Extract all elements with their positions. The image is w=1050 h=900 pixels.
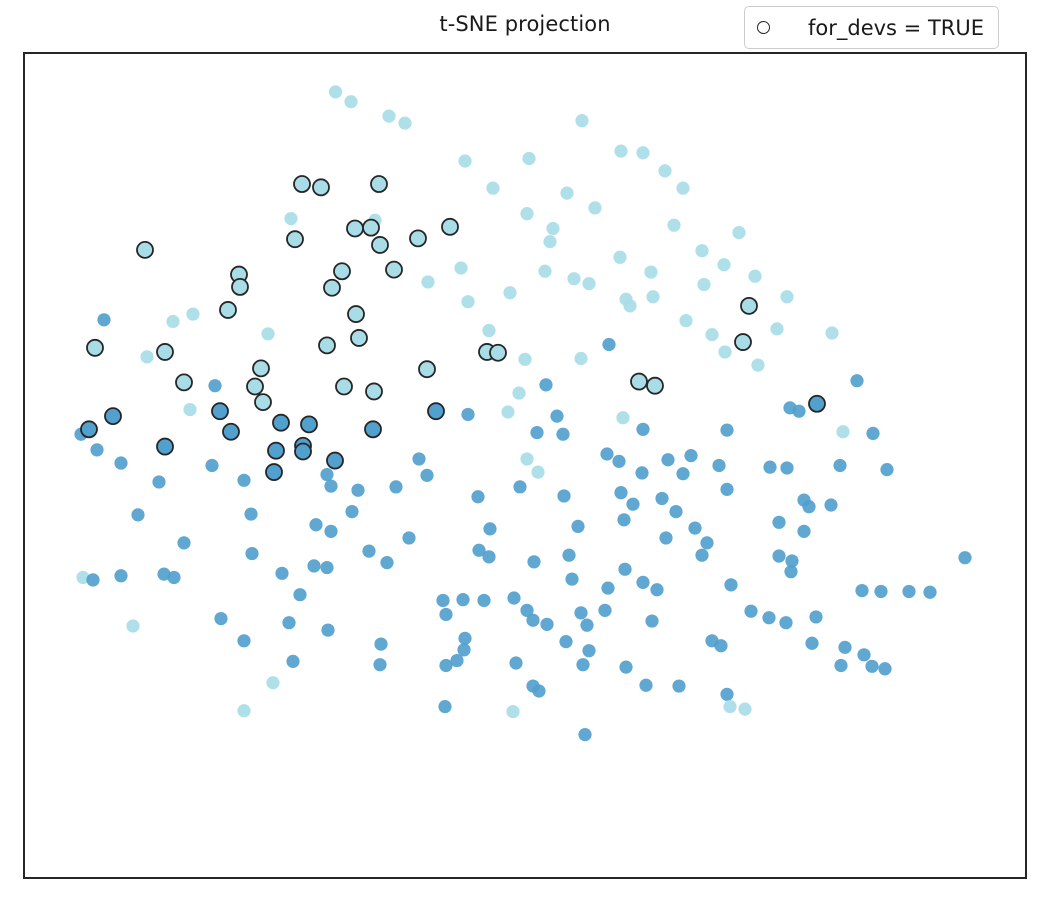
scatter-point bbox=[374, 637, 387, 650]
scatter-point bbox=[371, 176, 387, 192]
scatter-point bbox=[659, 531, 672, 544]
scatter-point bbox=[157, 344, 173, 360]
scatter-point bbox=[520, 207, 533, 220]
scatter-point bbox=[320, 468, 333, 481]
scatter-point bbox=[282, 616, 295, 629]
scatter-point bbox=[834, 659, 847, 672]
scatter-point bbox=[550, 410, 563, 423]
scatter-point bbox=[676, 467, 689, 480]
scatter-point bbox=[809, 610, 822, 623]
tsne-projection-figure: t-SNE projection for_devs = TRUE bbox=[0, 0, 1050, 900]
scatter-point bbox=[780, 461, 793, 474]
scatter-point bbox=[735, 334, 751, 350]
scatter-point bbox=[126, 619, 139, 632]
scatter-point bbox=[81, 421, 97, 437]
scatter-point bbox=[855, 584, 868, 597]
plot-area bbox=[23, 52, 1027, 879]
scatter-point bbox=[220, 302, 236, 318]
scatter-point bbox=[490, 345, 506, 361]
scatter-point bbox=[253, 360, 269, 376]
scatter-point bbox=[237, 634, 250, 647]
scatter-points-layer bbox=[25, 54, 1025, 877]
scatter-point bbox=[582, 277, 595, 290]
scatter-point bbox=[245, 547, 258, 560]
scatter-point bbox=[616, 411, 629, 424]
scatter-point bbox=[114, 569, 127, 582]
scatter-point bbox=[902, 585, 915, 598]
scatter-point bbox=[327, 453, 343, 469]
scatter-point bbox=[223, 424, 239, 440]
scatter-point bbox=[420, 469, 433, 482]
legend-marker-circle-open-icon bbox=[757, 21, 770, 34]
scatter-point bbox=[613, 251, 626, 264]
scatter-point bbox=[324, 525, 337, 538]
scatter-point bbox=[688, 521, 701, 534]
scatter-point bbox=[319, 337, 335, 353]
scatter-point bbox=[672, 679, 685, 692]
scatter-point bbox=[661, 453, 674, 466]
scatter-point bbox=[784, 565, 797, 578]
scatter-point bbox=[695, 549, 708, 562]
scatter-point bbox=[639, 679, 652, 692]
scatter-point bbox=[684, 449, 697, 462]
scatter-svg bbox=[25, 54, 1025, 877]
scatter-point bbox=[439, 608, 452, 621]
scatter-point bbox=[556, 428, 569, 441]
scatter-point bbox=[458, 154, 471, 167]
scatter-point bbox=[874, 585, 887, 598]
scatter-point bbox=[503, 286, 516, 299]
scatter-point bbox=[208, 379, 221, 392]
scatter-point bbox=[454, 261, 467, 274]
scatter-point bbox=[287, 231, 303, 247]
scatter-point bbox=[748, 270, 761, 283]
scatter-point bbox=[878, 662, 891, 675]
scatter-point bbox=[266, 464, 282, 480]
scatter-point bbox=[212, 403, 228, 419]
scatter-point bbox=[324, 280, 340, 296]
scatter-point bbox=[347, 220, 363, 236]
scatter-point bbox=[797, 525, 810, 538]
scatter-point bbox=[838, 641, 851, 654]
scatter-point bbox=[850, 374, 863, 387]
scatter-point bbox=[167, 571, 180, 584]
legend-item-label: for_devs = TRUE bbox=[808, 16, 984, 40]
scatter-point bbox=[131, 508, 144, 521]
scatter-point bbox=[574, 606, 587, 619]
scatter-point bbox=[419, 361, 435, 377]
scatter-point bbox=[636, 423, 649, 436]
scatter-point bbox=[266, 676, 279, 689]
scatter-point bbox=[762, 611, 775, 624]
scatter-point bbox=[421, 275, 434, 288]
scatter-point bbox=[482, 550, 495, 563]
scatter-point bbox=[307, 559, 320, 572]
scatter-point bbox=[137, 242, 153, 258]
scatter-point bbox=[635, 466, 648, 479]
scatter-point bbox=[724, 578, 737, 591]
scatter-point bbox=[751, 358, 764, 371]
scatter-point bbox=[772, 549, 785, 562]
scatter-point bbox=[140, 350, 153, 363]
scatter-point bbox=[336, 378, 352, 394]
scatter-point bbox=[532, 684, 545, 697]
scatter-point bbox=[636, 146, 649, 159]
scatter-point bbox=[700, 536, 713, 549]
scatter-point bbox=[779, 616, 792, 629]
scatter-point bbox=[365, 421, 381, 437]
scatter-point bbox=[712, 459, 725, 472]
scatter-point bbox=[763, 461, 776, 474]
scatter-point bbox=[619, 661, 632, 674]
scatter-point bbox=[714, 639, 727, 652]
scatter-point bbox=[486, 182, 499, 195]
scatter-point bbox=[477, 594, 490, 607]
scatter-point bbox=[284, 212, 297, 225]
scatter-point bbox=[157, 439, 173, 455]
scatter-point bbox=[614, 486, 627, 499]
scatter-point bbox=[320, 561, 333, 574]
scatter-point bbox=[720, 688, 733, 701]
scatter-point bbox=[237, 704, 250, 717]
scatter-point bbox=[152, 475, 165, 488]
scatter-point bbox=[345, 505, 358, 518]
scatter-point bbox=[410, 230, 426, 246]
scatter-point bbox=[588, 201, 601, 214]
scatter-point bbox=[382, 110, 395, 123]
scatter-point bbox=[324, 479, 337, 492]
scatter-point bbox=[655, 492, 668, 505]
scatter-point bbox=[520, 452, 533, 465]
scatter-point bbox=[658, 164, 671, 177]
scatter-point bbox=[571, 520, 584, 533]
scatter-point bbox=[833, 459, 846, 472]
scatter-point bbox=[557, 489, 570, 502]
scatter-point bbox=[286, 655, 299, 668]
scatter-point bbox=[617, 513, 630, 526]
scatter-point bbox=[669, 505, 682, 518]
scatter-point bbox=[695, 244, 708, 257]
scatter-point bbox=[501, 405, 514, 418]
scatter-point bbox=[866, 427, 879, 440]
scatter-point bbox=[205, 459, 218, 472]
scatter-point bbox=[600, 447, 613, 460]
scatter-point bbox=[865, 660, 878, 673]
scatter-point bbox=[402, 531, 415, 544]
scatter-point bbox=[923, 586, 936, 599]
scatter-point bbox=[576, 658, 589, 671]
scatter-point bbox=[321, 624, 334, 637]
scatter-point bbox=[717, 258, 730, 271]
scatter-point bbox=[87, 340, 103, 356]
scatter-point bbox=[506, 705, 519, 718]
scatter-point bbox=[334, 263, 350, 279]
scatter-point bbox=[97, 313, 110, 326]
scatter-point bbox=[348, 306, 364, 322]
scatter-point bbox=[565, 572, 578, 585]
scatter-point bbox=[636, 576, 649, 589]
scatter-point bbox=[166, 315, 179, 328]
scatter-point bbox=[780, 290, 793, 303]
scatter-point bbox=[244, 507, 257, 520]
scatter-point bbox=[458, 632, 471, 645]
scatter-point bbox=[705, 328, 718, 341]
scatter-point bbox=[275, 567, 288, 580]
scatter-point bbox=[372, 237, 388, 253]
scatter-point bbox=[386, 262, 402, 278]
scatter-point bbox=[518, 353, 531, 366]
scatter-point bbox=[679, 314, 692, 327]
scatter-point bbox=[389, 480, 402, 493]
scatter-point bbox=[363, 220, 379, 236]
scatter-point bbox=[527, 555, 540, 568]
scatter-point bbox=[601, 582, 614, 595]
scatter-point bbox=[456, 593, 469, 606]
scatter-point bbox=[741, 298, 757, 314]
scatter-point bbox=[626, 498, 639, 511]
scatter-point bbox=[526, 614, 539, 627]
legend: for_devs = TRUE bbox=[744, 6, 999, 49]
scatter-point bbox=[513, 480, 526, 493]
scatter-point bbox=[598, 604, 611, 617]
scatter-point bbox=[261, 327, 274, 340]
scatter-point bbox=[482, 324, 495, 337]
scatter-point bbox=[105, 408, 121, 424]
scatter-point bbox=[412, 452, 425, 465]
scatter-point bbox=[214, 612, 227, 625]
scatter-point bbox=[366, 383, 382, 399]
scatter-point bbox=[373, 658, 386, 671]
scatter-point bbox=[351, 330, 367, 346]
scatter-point bbox=[351, 484, 364, 497]
scatter-point bbox=[522, 152, 535, 165]
scatter-point bbox=[183, 403, 196, 416]
scatter-point bbox=[631, 374, 647, 390]
scatter-point bbox=[450, 654, 463, 667]
scatter-point bbox=[644, 265, 657, 278]
scatter-point bbox=[824, 498, 837, 511]
scatter-point bbox=[720, 424, 733, 437]
scatter-point bbox=[646, 290, 659, 303]
scatter-point bbox=[268, 443, 284, 459]
scatter-point bbox=[86, 573, 99, 586]
scatter-point bbox=[176, 374, 192, 390]
scatter-point bbox=[539, 378, 552, 391]
scatter-point bbox=[237, 474, 250, 487]
scatter-point bbox=[562, 549, 575, 562]
scatter-point bbox=[650, 583, 663, 596]
scatter-point bbox=[772, 516, 785, 529]
scatter-point bbox=[792, 405, 805, 418]
scatter-point bbox=[720, 483, 733, 496]
scatter-point bbox=[836, 425, 849, 438]
scatter-point bbox=[540, 618, 553, 631]
scatter-point bbox=[428, 403, 444, 419]
scatter-point bbox=[362, 544, 375, 557]
scatter-point bbox=[461, 408, 474, 421]
scatter-point bbox=[543, 235, 556, 248]
scatter-point bbox=[623, 299, 636, 312]
scatter-point bbox=[738, 703, 751, 716]
scatter-point bbox=[805, 637, 818, 650]
scatter-point bbox=[483, 522, 496, 535]
scatter-point bbox=[114, 456, 127, 469]
scatter-point bbox=[559, 635, 572, 648]
scatter-point bbox=[667, 219, 680, 232]
scatter-point bbox=[574, 352, 587, 365]
scatter-point bbox=[294, 176, 310, 192]
scatter-point bbox=[442, 219, 458, 235]
scatter-point bbox=[507, 591, 520, 604]
scatter-point bbox=[546, 222, 559, 235]
scatter-point bbox=[580, 619, 593, 632]
scatter-point bbox=[538, 265, 551, 278]
scatter-point bbox=[293, 588, 306, 601]
scatter-point bbox=[530, 426, 543, 439]
scatter-point bbox=[461, 295, 474, 308]
scatter-point bbox=[438, 700, 451, 713]
scatter-point bbox=[512, 386, 525, 399]
scatter-point bbox=[697, 278, 710, 291]
scatter-point bbox=[618, 563, 631, 576]
scatter-point bbox=[958, 551, 971, 564]
scatter-point bbox=[255, 394, 271, 410]
scatter-point bbox=[186, 307, 199, 320]
scatter-point bbox=[723, 700, 736, 713]
scatter-point bbox=[567, 272, 580, 285]
scatter-point bbox=[380, 556, 393, 569]
scatter-point bbox=[614, 145, 627, 158]
scatter-point bbox=[880, 463, 893, 476]
scatter-point bbox=[313, 179, 329, 195]
scatter-point bbox=[575, 114, 588, 127]
scatter-point bbox=[770, 322, 783, 335]
scatter-point bbox=[398, 117, 411, 130]
scatter-point bbox=[602, 338, 615, 351]
scatter-point bbox=[232, 279, 248, 295]
scatter-point bbox=[718, 345, 731, 358]
scatter-point bbox=[582, 644, 595, 657]
scatter-point bbox=[732, 226, 745, 239]
scatter-point bbox=[825, 326, 838, 339]
scatter-point bbox=[247, 378, 263, 394]
scatter-point bbox=[471, 490, 484, 503]
scatter-point bbox=[531, 465, 544, 478]
scatter-point bbox=[809, 396, 825, 412]
scatter-point bbox=[857, 648, 870, 661]
scatter-point bbox=[509, 656, 522, 669]
scatter-point bbox=[344, 95, 357, 108]
scatter-point bbox=[309, 518, 322, 531]
scatter-point bbox=[301, 416, 317, 432]
scatter-point bbox=[329, 85, 342, 98]
scatter-point bbox=[645, 614, 658, 627]
scatter-point bbox=[273, 415, 289, 431]
scatter-point bbox=[676, 182, 689, 195]
scatter-point bbox=[802, 500, 815, 513]
scatter-point bbox=[560, 186, 573, 199]
scatter-point bbox=[436, 594, 449, 607]
scatter-point bbox=[744, 605, 757, 618]
scatter-point bbox=[578, 728, 591, 741]
scatter-point bbox=[612, 455, 625, 468]
scatter-point bbox=[647, 378, 663, 394]
scatter-point bbox=[295, 444, 311, 460]
scatter-point bbox=[90, 443, 103, 456]
scatter-point bbox=[177, 536, 190, 549]
